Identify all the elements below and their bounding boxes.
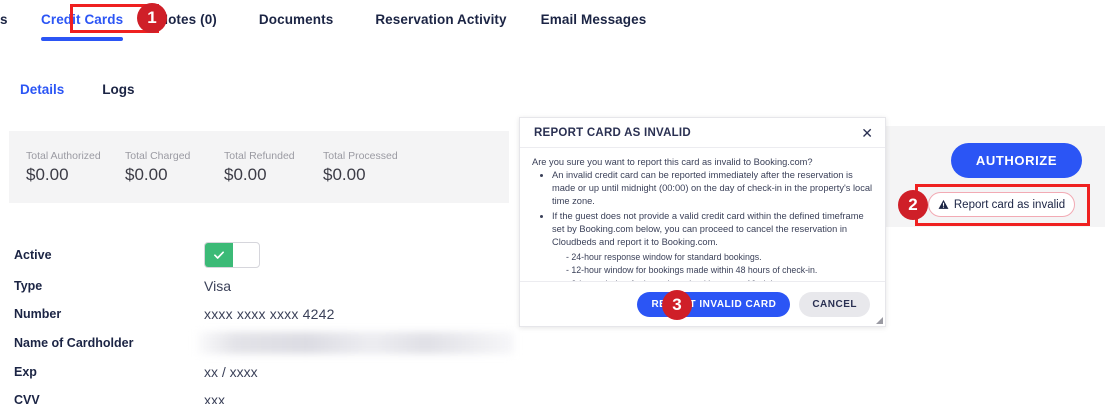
tab-active-underline [41, 37, 123, 41]
field-exp-value: xx / xxxx [204, 364, 258, 380]
tab-reservation-activity[interactable]: Reservation Activity [375, 0, 506, 27]
totals-summary-panel: Total Authorized $0.00 Total Charged $0.… [9, 131, 509, 203]
field-cvv-label: CVV [14, 393, 204, 404]
cardholder-redacted-value [197, 332, 514, 354]
card-details-list: Active Type Visa Number xxxx xxxx xxxx 4… [14, 238, 514, 404]
annotation-badge-2: 2 [898, 190, 928, 220]
subtab-details[interactable]: Details [20, 82, 64, 97]
tab-truncated-left-label: s [0, 12, 8, 27]
field-exp-label: Exp [14, 365, 204, 379]
total-charged-value: $0.00 [125, 165, 210, 185]
field-cardholder: Name of Cardholder [14, 328, 514, 358]
subtab-logs-label: Logs [102, 82, 134, 97]
dialog-title: REPORT CARD AS INVALID [534, 127, 691, 139]
total-authorized-label: Total Authorized [26, 150, 111, 162]
tab-reservation-activity-label: Reservation Activity [375, 12, 506, 27]
total-refunded-value: $0.00 [224, 165, 309, 185]
field-cvv-value: xxx [204, 392, 225, 404]
total-refunded: Total Refunded $0.00 [224, 150, 309, 185]
total-charged-label: Total Charged [125, 150, 210, 162]
toggle-on-half [205, 243, 233, 267]
total-processed: Total Processed $0.00 [323, 150, 408, 185]
dialog-body: Are you sure you want to report this car… [520, 148, 885, 281]
warning-triangle-icon [938, 199, 949, 210]
dialog-sub-item: - 12-hour window for bookings made withi… [566, 264, 873, 277]
tab-email-messages[interactable]: Email Messages [541, 0, 647, 27]
field-type-label: Type [14, 279, 204, 293]
field-active: Active [14, 238, 514, 272]
dialog-sub-items: - 24-hour response window for standard b… [566, 251, 873, 281]
subtab-details-label: Details [20, 82, 64, 97]
annotation-badge-1: 1 [137, 3, 167, 33]
active-toggle[interactable] [204, 242, 260, 268]
field-active-label: Active [14, 248, 204, 262]
total-authorized-value: $0.00 [26, 165, 111, 185]
card-subtabs: Details Logs [20, 82, 135, 97]
report-card-as-invalid-button[interactable]: Report card as invalid [928, 192, 1075, 217]
total-authorized: Total Authorized $0.00 [26, 150, 111, 185]
tab-notes[interactable]: Notes (0) [158, 0, 217, 27]
annotation-badge-3-label: 3 [672, 295, 681, 315]
resize-handle-icon[interactable] [875, 316, 883, 324]
dialog-bullet: If the guest does not provide a valid cr… [552, 210, 873, 250]
field-exp: Exp xx / xxxx [14, 358, 514, 386]
dialog-header: REPORT CARD AS INVALID ✕ [520, 118, 885, 148]
dialog-footer: REPORT INVALID CARD CANCEL [520, 281, 885, 326]
dialog-bullet: An invalid credit card can be reported i… [552, 169, 873, 209]
dialog-bullet-list: An invalid credit card can be reported i… [552, 169, 873, 249]
tab-documents[interactable]: Documents [259, 0, 333, 27]
tab-documents-label: Documents [259, 12, 333, 27]
report-card-as-invalid-label: Report card as invalid [954, 199, 1065, 211]
tab-credit-cards-label: Credit Cards [41, 12, 123, 27]
dialog-intro-text: Are you sure you want to report this car… [532, 157, 873, 167]
annotation-badge-2-label: 2 [908, 195, 917, 215]
field-number: Number xxxx xxxx xxxx 4242 [14, 300, 514, 328]
credit-cards-screen: s Credit Cards Notes (0) Documents Reser… [0, 0, 1105, 404]
annotation-badge-3: 3 [662, 290, 692, 320]
field-number-label: Number [14, 307, 204, 321]
authorize-button[interactable]: AUTHORIZE [951, 143, 1082, 178]
dialog-sub-item: - 24-hour response window for standard b… [566, 251, 873, 264]
field-cardholder-label: Name of Cardholder [14, 336, 197, 350]
cancel-button[interactable]: CANCEL [799, 292, 870, 317]
tab-credit-cards[interactable]: Credit Cards [41, 0, 123, 27]
check-icon [213, 249, 225, 261]
field-type: Type Visa [14, 272, 514, 300]
field-cvv: CVV xxx [14, 386, 514, 404]
field-number-value: xxxx xxxx xxxx 4242 [204, 306, 335, 322]
field-type-value: Visa [204, 278, 231, 294]
total-refunded-label: Total Refunded [224, 150, 309, 162]
close-icon[interactable]: ✕ [861, 126, 873, 140]
tab-truncated-left[interactable]: s [0, 0, 14, 27]
tab-email-messages-label: Email Messages [541, 12, 647, 27]
total-processed-value: $0.00 [323, 165, 408, 185]
report-card-as-invalid-dialog: REPORT CARD AS INVALID ✕ Are you sure yo… [519, 117, 886, 327]
subtab-logs[interactable]: Logs [102, 82, 134, 97]
tab-notes-label: Notes (0) [158, 12, 217, 27]
total-charged: Total Charged $0.00 [125, 150, 210, 185]
report-invalid-card-button[interactable]: REPORT INVALID CARD [637, 292, 790, 317]
total-processed-label: Total Processed [323, 150, 408, 162]
annotation-badge-1-label: 1 [147, 8, 156, 28]
